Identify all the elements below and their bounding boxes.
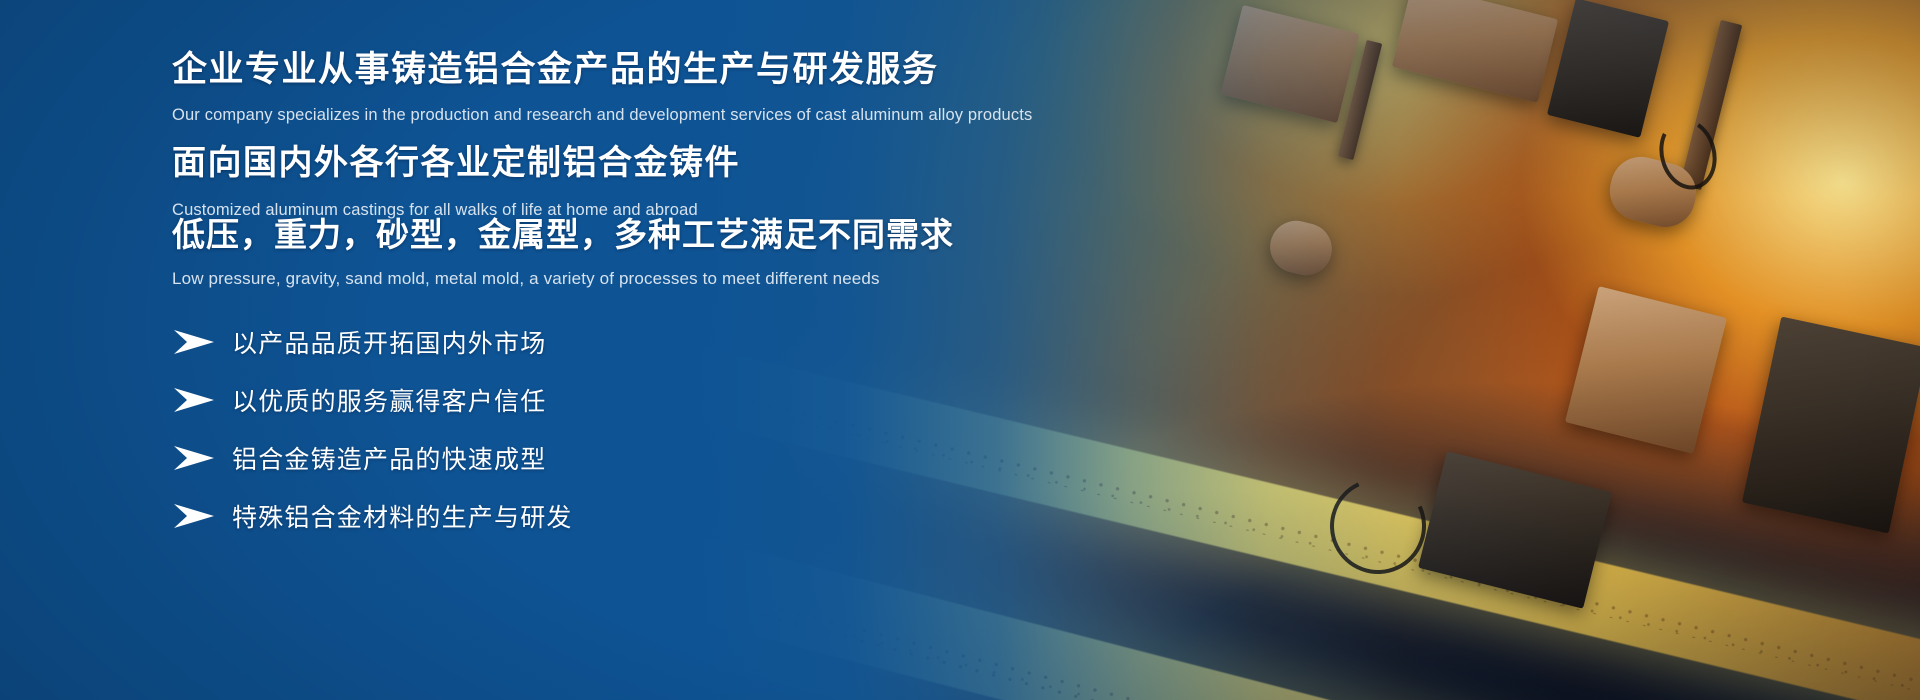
list-item[interactable]: 以优质的服务赢得客户信任 (172, 371, 573, 429)
headline-block-tertiary: 低压，重力，砂型，金属型，多种工艺满足不同需求 Low pressure, gr… (172, 214, 954, 289)
arrow-right-triangle-icon (172, 329, 216, 355)
list-item[interactable]: 特殊铝合金材料的生产与研发 (172, 487, 573, 545)
list-item-label: 铝合金铸造产品的快速成型 (232, 440, 546, 476)
headline-block-secondary: 面向国内外各行各业定制铝合金铸件 Customized aluminum cas… (172, 142, 740, 220)
list-item[interactable]: 铝合金铸造产品的快速成型 (172, 429, 573, 487)
headline-en-tertiary: Low pressure, gravity, sand mold, metal … (172, 269, 954, 289)
headline-zh-secondary: 面向国内外各行各业定制铝合金铸件 (172, 142, 740, 185)
headline-zh-primary: 企业专业从事铸造铝合金产品的生产与研发服务 (172, 48, 1032, 92)
arrow-right-triangle-icon (172, 387, 216, 413)
list-item-label: 特殊铝合金材料的生产与研发 (232, 498, 573, 534)
feature-bullet-list: 以产品品质开拓国内外市场 以优质的服务赢得客户信任 铝合金铸造产品的快速成型 特… (172, 313, 573, 545)
list-item-label: 以产品品质开拓国内外市场 (232, 324, 546, 360)
headline-en-primary: Our company specializes in the productio… (172, 106, 1032, 125)
arrow-right-triangle-icon (172, 445, 216, 471)
arrow-right-triangle-icon (172, 503, 216, 529)
list-item-label: 以优质的服务赢得客户信任 (232, 382, 546, 418)
banner-content: 企业专业从事铸造铝合金产品的生产与研发服务 Our company specia… (172, 0, 1352, 700)
headline-block-primary: 企业专业从事铸造铝合金产品的生产与研发服务 Our company specia… (172, 48, 1032, 125)
list-item[interactable]: 以产品品质开拓国内外市场 (172, 313, 573, 371)
headline-zh-tertiary: 低压，重力，砂型，金属型，多种工艺满足不同需求 (172, 214, 954, 255)
hero-banner: 企业专业从事铸造铝合金产品的生产与研发服务 Our company specia… (0, 0, 1920, 700)
